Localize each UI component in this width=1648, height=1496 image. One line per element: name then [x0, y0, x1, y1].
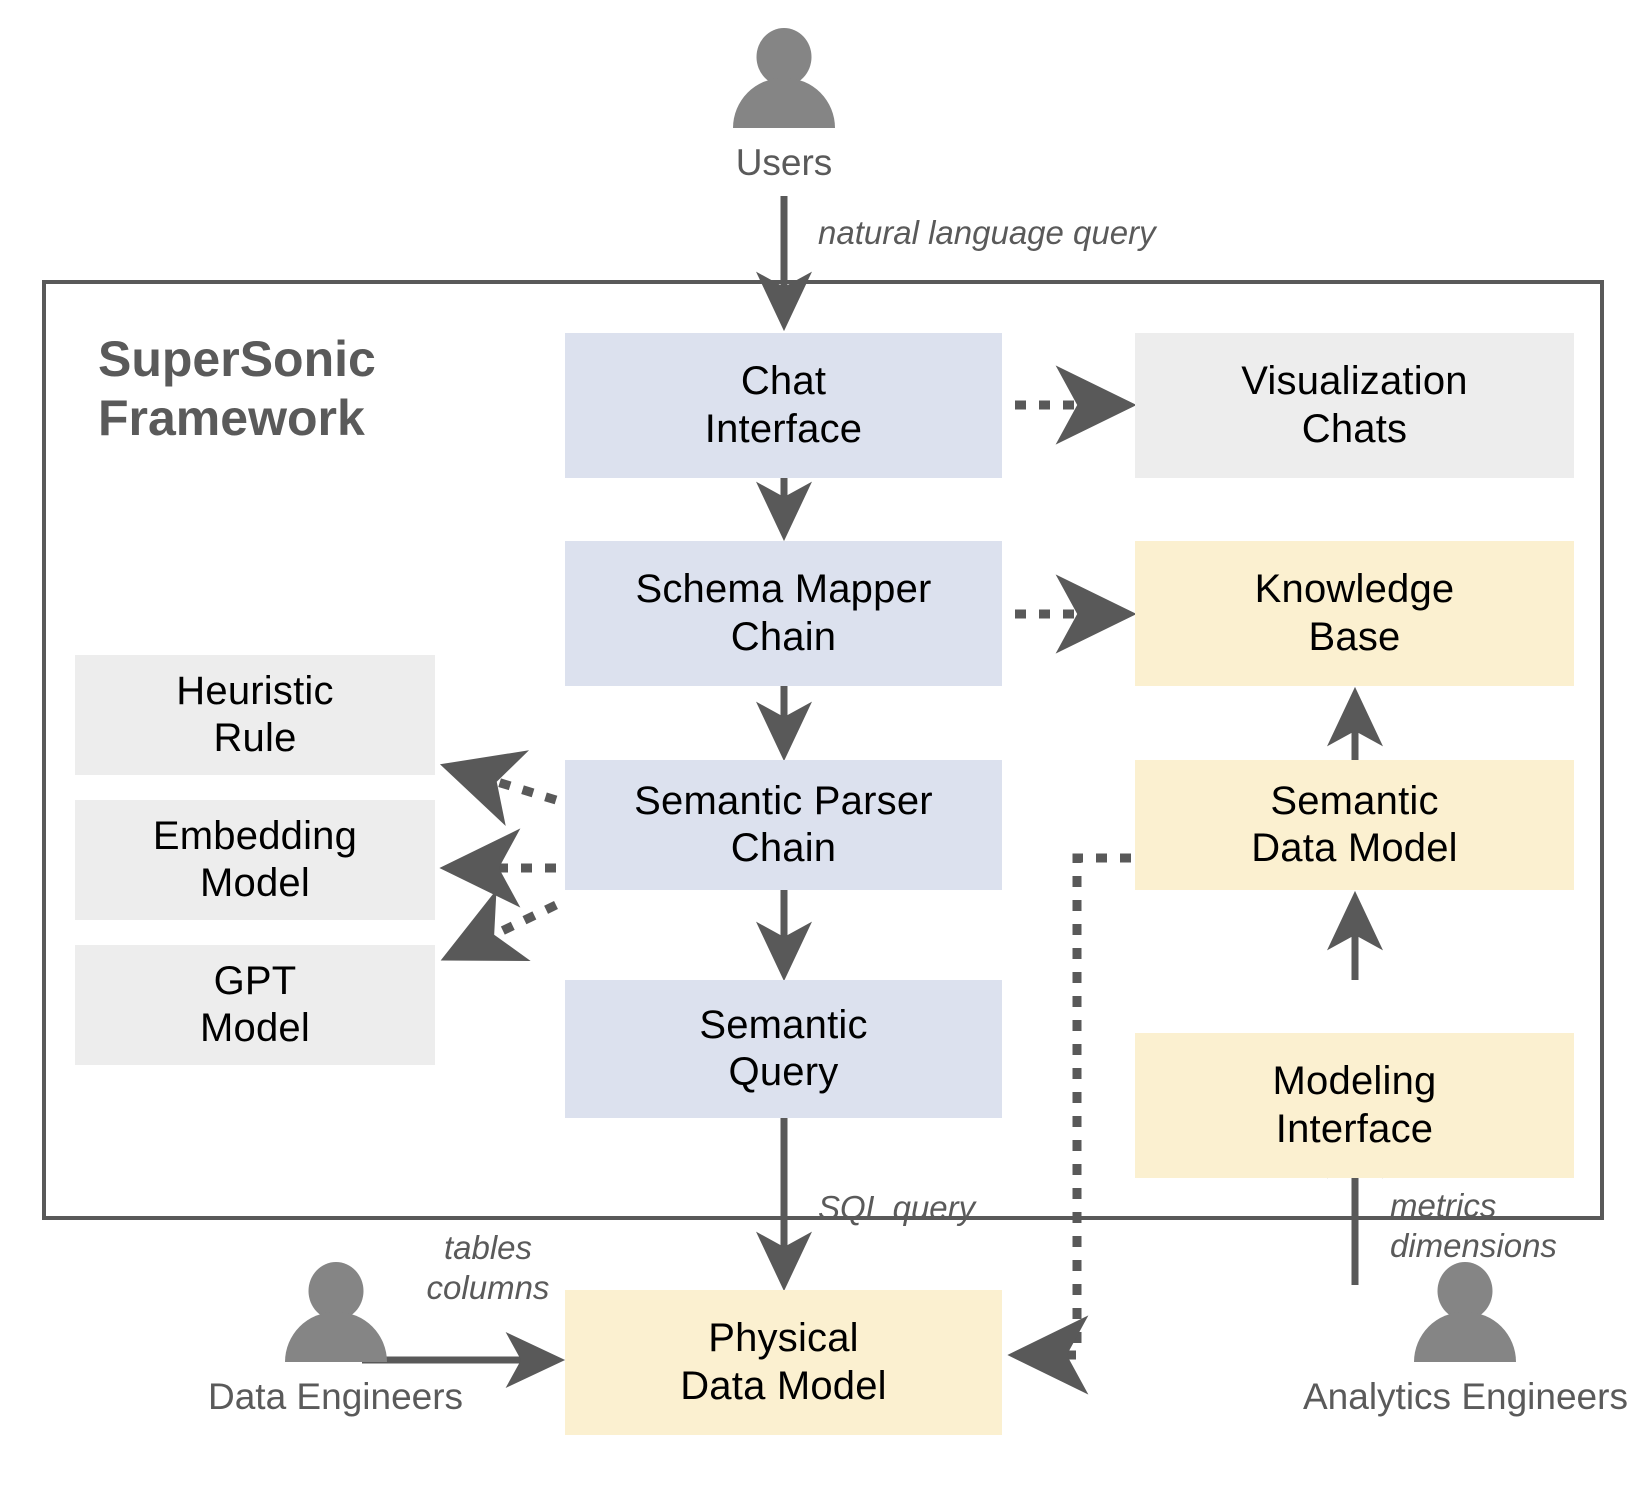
node-knowledge-base[interactable]: Knowledge Base: [1135, 541, 1574, 686]
edge-label-tables-columns: tables columns: [418, 1228, 558, 1307]
node-chat-interface[interactable]: Chat Interface: [565, 333, 1002, 478]
person-icon: [284, 1262, 388, 1370]
actor-users-label: Users: [736, 142, 833, 184]
node-semantic-parser-chain[interactable]: Semantic Parser Chain: [565, 760, 1002, 890]
person-icon: [1413, 1262, 1517, 1370]
node-semantic-query[interactable]: Semantic Query: [565, 980, 1002, 1118]
actor-analytics-engineers: Analytics Engineers: [1303, 1262, 1628, 1418]
diagram-canvas: SuperSonic Framework Users Data Engineer…: [0, 0, 1648, 1496]
node-embedding-model[interactable]: Embedding Model: [75, 800, 435, 920]
actor-users: Users: [732, 28, 836, 184]
node-schema-mapper-chain[interactable]: Schema Mapper Chain: [565, 541, 1002, 686]
person-icon: [732, 28, 836, 136]
node-semantic-data-model[interactable]: Semantic Data Model: [1135, 760, 1574, 890]
node-heuristic-rule[interactable]: Heuristic Rule: [75, 655, 435, 775]
edge-label-sql-query: SQL query: [818, 1188, 975, 1228]
node-modeling-interface[interactable]: Modeling Interface: [1135, 1033, 1574, 1178]
node-physical-data-model[interactable]: Physical Data Model: [565, 1290, 1002, 1435]
node-visualization-chats[interactable]: Visualization Chats: [1135, 333, 1574, 478]
framework-title: SuperSonic Framework: [98, 330, 498, 448]
actor-analytics-engineers-label: Analytics Engineers: [1303, 1376, 1628, 1418]
node-gpt-model[interactable]: GPT Model: [75, 945, 435, 1065]
edge-label-metrics-dimensions: metrics dimensions: [1390, 1186, 1557, 1265]
actor-data-engineers-label: Data Engineers: [208, 1376, 463, 1418]
edge-label-natural-language-query: natural language query: [818, 213, 1156, 253]
